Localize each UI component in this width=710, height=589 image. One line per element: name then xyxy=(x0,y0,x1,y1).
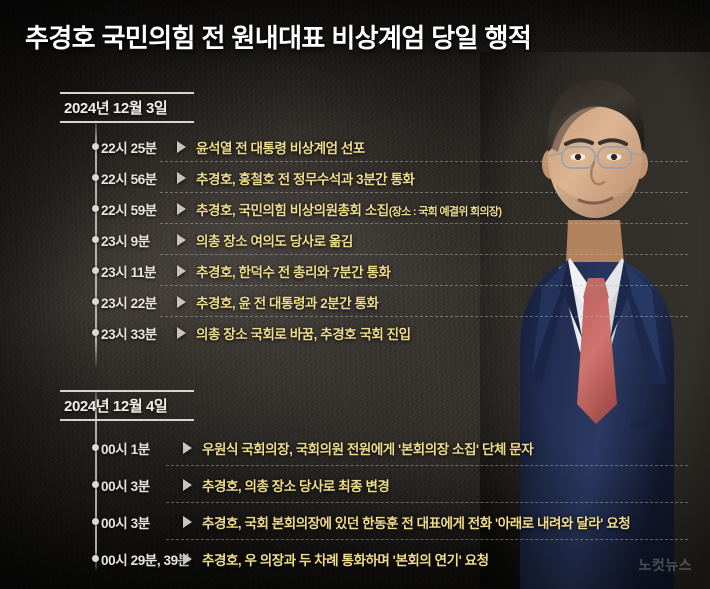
timeline-group-day2: 2024년 12월 4일 00시 1분 우원식 국회의장, 국회의원 전원에게 … xyxy=(0,390,710,577)
entry-event: 윤석열 전 대통령 비상계엄 선포 xyxy=(196,137,365,157)
entry-event: 의총 장소 국회로 바꿈, 추경호 국회 진입 xyxy=(196,323,411,343)
entry-time: 00시 3분 xyxy=(101,475,150,495)
timeline-dot-icon xyxy=(92,174,99,181)
timeline: 2024년 12월 3일 22시 25분 윤석열 전 대통령 비상계엄 선포 2… xyxy=(0,92,710,577)
entry-time: 22시 56분 xyxy=(101,168,157,188)
entry-event: 추경호, 홍철호 전 정무수석과 3분간 통화 xyxy=(196,168,414,188)
timeline-row[interactable]: 00시 29분, 39분 추경호, 우 의장과 두 차례 통화하며 '본회의 연… xyxy=(0,540,710,577)
date-label: 2024년 12월 3일 xyxy=(64,97,194,118)
date-header-day2: 2024년 12월 4일 xyxy=(60,390,194,421)
timeline-dot-icon xyxy=(92,481,99,488)
entry-event-main: 추경호, 국민의힘 비상의원총회 소집 xyxy=(196,203,389,218)
triangle-right-icon xyxy=(177,141,186,153)
timeline-group-day1: 2024년 12월 3일 22시 25분 윤석열 전 대통령 비상계엄 선포 2… xyxy=(0,92,710,348)
timeline-dot-icon xyxy=(92,267,99,274)
entry-time: 00시 3분 xyxy=(101,512,150,532)
timeline-dot-icon xyxy=(92,329,99,336)
timeline-dot-icon xyxy=(92,236,99,243)
triangle-right-icon xyxy=(177,265,186,277)
timeline-row[interactable]: 00시 3분 추경호, 국회 본회의장에 있던 한동훈 전 대표에게 전화 '아… xyxy=(0,503,710,540)
entry-time: 23시 9분 xyxy=(101,230,150,250)
entry-event: 추경호, 국회 본회의장에 있던 한동훈 전 대표에게 전화 '아래로 내려와 … xyxy=(202,512,630,532)
entry-event: 추경호, 윤 전 대통령과 2분간 통화 xyxy=(196,292,378,312)
timeline-row[interactable]: 23시 9분 의총 장소 여의도 당사로 옮김 xyxy=(0,224,710,255)
entry-time: 23시 33분 xyxy=(101,323,157,343)
timeline-row[interactable]: 23시 11분 추경호, 한덕수 전 총리와 7분간 통화 xyxy=(0,255,710,286)
timeline-rows-day2: 00시 1분 우원식 국회의장, 국회의원 전원에게 '본회의장 소집' 단체 … xyxy=(0,421,710,577)
triangle-right-icon xyxy=(177,296,186,308)
entry-event: 추경호, 한덕수 전 총리와 7분간 통화 xyxy=(196,261,390,281)
timeline-dot-icon xyxy=(92,444,99,451)
entry-event: 우원식 국회의장, 국회의원 전원에게 '본회의장 소집' 단체 문자 xyxy=(202,438,533,458)
date-header-day1: 2024년 12월 3일 xyxy=(60,92,194,123)
timeline-row[interactable]: 23시 22분 추경호, 윤 전 대통령과 2분간 통화 xyxy=(0,286,710,317)
entry-time: 00시 1분 xyxy=(101,438,150,458)
triangle-right-icon xyxy=(183,553,192,565)
timeline-row[interactable]: 00시 3분 추경호, 의총 장소 당사로 최종 변경 xyxy=(0,466,710,503)
triangle-right-icon xyxy=(177,172,186,184)
triangle-right-icon xyxy=(183,516,192,528)
timeline-dot-icon xyxy=(92,205,99,212)
timeline-row[interactable]: 23시 33분 의총 장소 국회로 바꿈, 추경호 국회 진입 xyxy=(0,317,710,348)
triangle-right-icon xyxy=(177,327,186,339)
entry-event: 추경호, 우 의장과 두 차례 통화하며 '본회의 연기' 요청 xyxy=(202,549,489,569)
timeline-rows-day1: 22시 25분 윤석열 전 대통령 비상계엄 선포 22시 56분 추경호, 홍… xyxy=(0,123,710,348)
entry-event: 추경호, 의총 장소 당사로 최종 변경 xyxy=(202,475,389,495)
triangle-right-icon xyxy=(177,234,186,246)
page-title: 추경호 국민의힘 전 원내대표 비상계엄 당일 행적 xyxy=(25,18,531,55)
timeline-row[interactable]: 00시 1분 우원식 국회의장, 국회의원 전원에게 '본회의장 소집' 단체 … xyxy=(0,429,710,466)
entry-event-note: (장소 : 국회 예결위 회의장) xyxy=(389,206,502,218)
watermark-logo: 노컷뉴스 xyxy=(638,555,692,575)
timeline-row[interactable]: 22시 25분 윤석열 전 대통령 비상계엄 선포 xyxy=(0,131,710,162)
entry-event: 추경호, 국민의힘 비상의원총회 소집(장소 : 국회 예결위 회의장) xyxy=(196,199,501,219)
timeline-dot-icon xyxy=(92,298,99,305)
timeline-dot-icon xyxy=(92,518,99,525)
entry-event: 의총 장소 여의도 당사로 옮김 xyxy=(196,230,353,250)
triangle-right-icon xyxy=(183,442,192,454)
infographic-canvas: 추경호 국민의힘 전 원내대표 비상계엄 당일 행적 xyxy=(0,0,710,589)
entry-time: 22시 25분 xyxy=(101,137,157,157)
triangle-right-icon xyxy=(183,479,192,491)
entry-time: 23시 22분 xyxy=(101,292,157,312)
timeline-row[interactable]: 22시 59분 추경호, 국민의힘 비상의원총회 소집(장소 : 국회 예결위 … xyxy=(0,193,710,224)
entry-time: 22시 59분 xyxy=(101,199,157,219)
entry-time: 00시 29분, 39분 xyxy=(101,549,190,569)
date-label: 2024년 12월 4일 xyxy=(64,395,194,416)
entry-time: 23시 11분 xyxy=(101,261,156,281)
timeline-row[interactable]: 22시 56분 추경호, 홍철호 전 정무수석과 3분간 통화 xyxy=(0,162,710,193)
triangle-right-icon xyxy=(177,203,186,215)
timeline-dot-icon xyxy=(92,555,99,562)
timeline-dot-icon xyxy=(92,143,99,150)
